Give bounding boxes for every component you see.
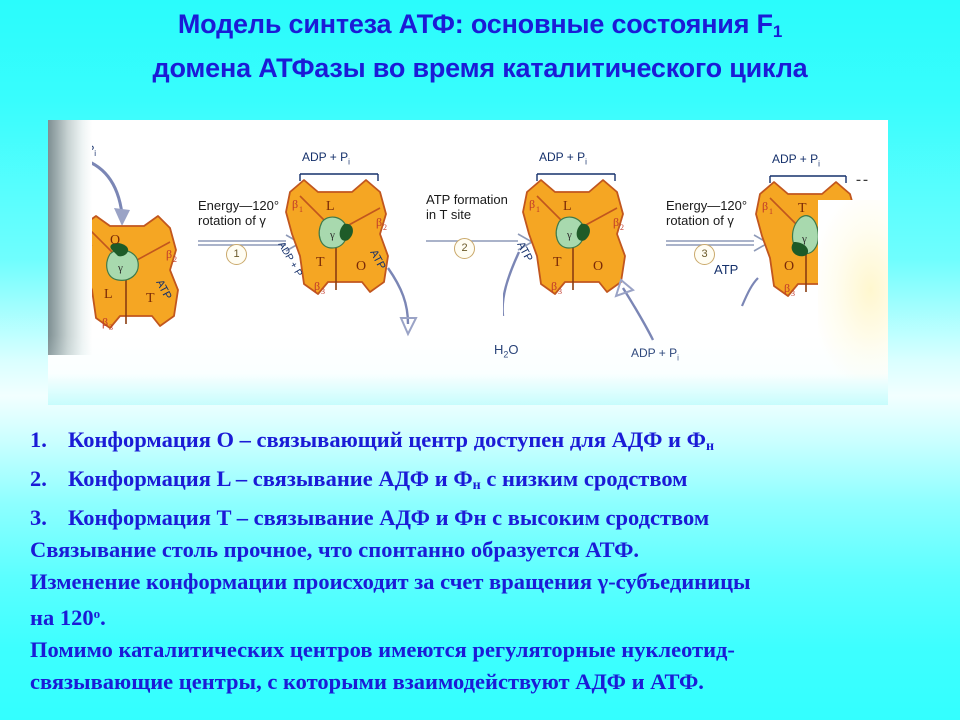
step-2-number: 2 (454, 238, 475, 259)
list-item-3-number: 3. (30, 502, 68, 534)
paragraph-3: на 120o. (30, 598, 935, 634)
svg-text:1: 1 (536, 205, 540, 214)
svg-text:T: T (798, 201, 807, 216)
svg-text:γ: γ (329, 229, 335, 241)
list-item-2-subscript: н (473, 478, 481, 493)
paragraph-4: Помимо каталитических центров имеются ре… (30, 634, 935, 666)
svg-text:3: 3 (321, 287, 325, 296)
edge-atp-text: ATP s (854, 320, 860, 364)
svg-text:γ: γ (566, 229, 572, 241)
svg-text:3: 3 (558, 287, 562, 296)
structure-3: γ L T O β 1 β 2 β 3 ATP ADP + Pi ADP + P… (503, 148, 688, 378)
svg-text:L: L (563, 199, 572, 214)
svg-text:β: β (166, 247, 172, 261)
svg-text:3: 3 (791, 289, 795, 298)
paragraph-5: связывающие центры, с которыми взаимодей… (30, 666, 935, 698)
edge-dashes: -- (856, 172, 870, 189)
svg-text:L: L (326, 199, 335, 214)
svg-text:L: L (826, 261, 835, 276)
title-line-2: домена АТФазы во время каталитического ц… (0, 50, 960, 86)
svg-text:T: T (553, 255, 562, 270)
svg-text:O: O (784, 259, 794, 274)
slide-title: Модель синтеза АТФ: основные состояния F… (0, 6, 960, 86)
svg-text:ADP + P: ADP + P (67, 278, 89, 318)
svg-text:β: β (292, 197, 298, 211)
title-line-1: Модель синтеза АТФ: основные состояния F… (178, 9, 782, 39)
svg-text:T: T (146, 291, 155, 306)
list-item-1-number: 1. (30, 424, 68, 456)
clipped-edge-artwork: -- ATP s (854, 160, 888, 400)
svg-text:T: T (316, 255, 325, 270)
svg-text:2: 2 (173, 255, 177, 264)
svg-text:2: 2 (383, 223, 387, 232)
svg-text:1: 1 (89, 239, 93, 248)
step-3-number: 3 (694, 244, 715, 265)
svg-text:β: β (376, 215, 382, 229)
paragraph-2: Изменение конформации происходит за счет… (30, 566, 935, 598)
diagram-panel: γ O L T β 1 β 2 β 3 ADP + P ATP ADP + Pi… (48, 120, 888, 405)
svg-text:3: 3 (109, 323, 113, 332)
list-item-3-text: Конформация T – связывание АДФ и Фн с вы… (68, 502, 935, 534)
list-item-2-number: 2. (30, 463, 68, 495)
svg-text:β: β (613, 215, 619, 229)
structure-1-inflow-label: ADP + Pi (52, 144, 96, 158)
list-item-1: 1. Конформация O – связывающий центр дос… (30, 424, 935, 463)
svg-text:2: 2 (620, 223, 624, 232)
svg-text:β: β (314, 279, 320, 293)
list-item-1-subscript: н (706, 439, 714, 454)
structure-4-atp-label: ATP (714, 262, 738, 277)
structure-2: γ L T O β 1 β 2 β 3 ADP + P ATP ADP + Pi (270, 148, 450, 363)
step-1-number: 1 (226, 244, 247, 265)
structure-2-top-label: ADP + Pi (302, 150, 350, 166)
body-text: 1. Конформация O – связывающий центр дос… (30, 424, 935, 698)
svg-text:O: O (356, 259, 366, 274)
svg-text:β: β (82, 231, 88, 245)
list-item-3: 3. Конформация T – связывание АДФ и Фн с… (30, 502, 935, 534)
svg-text:O: O (110, 233, 120, 248)
svg-text:β: β (846, 217, 852, 231)
edge-decoration-icon (854, 208, 888, 298)
svg-text:O: O (593, 259, 603, 274)
paragraph-1: Связывание столь прочное, что спонтанно … (30, 534, 935, 566)
svg-text:γ: γ (801, 233, 807, 245)
svg-text:1: 1 (299, 205, 303, 214)
svg-text:β: β (529, 197, 535, 211)
svg-text:L: L (104, 287, 113, 302)
svg-text:β: β (551, 279, 557, 293)
svg-text:β: β (762, 199, 768, 213)
list-item-2: 2. Конформация L – связывание АДФ и Фн с… (30, 463, 935, 502)
svg-text:1: 1 (769, 207, 773, 216)
svg-text:β: β (102, 315, 108, 329)
svg-text:γ: γ (117, 262, 123, 274)
structure-4-top-label: ADP + Pi (772, 152, 820, 168)
title-subscript: 1 (773, 22, 782, 41)
svg-text:β: β (784, 281, 790, 295)
structure-3-top-label: ADP + Pi (539, 150, 587, 166)
list-item-2-text: Конформация L – связывание АДФ и Фн с ни… (68, 463, 935, 502)
structure-3-bottom-inflow-label: ADP + Pi (631, 346, 679, 362)
list-item-1-text: Конформация O – связывающий центр доступ… (68, 424, 935, 463)
